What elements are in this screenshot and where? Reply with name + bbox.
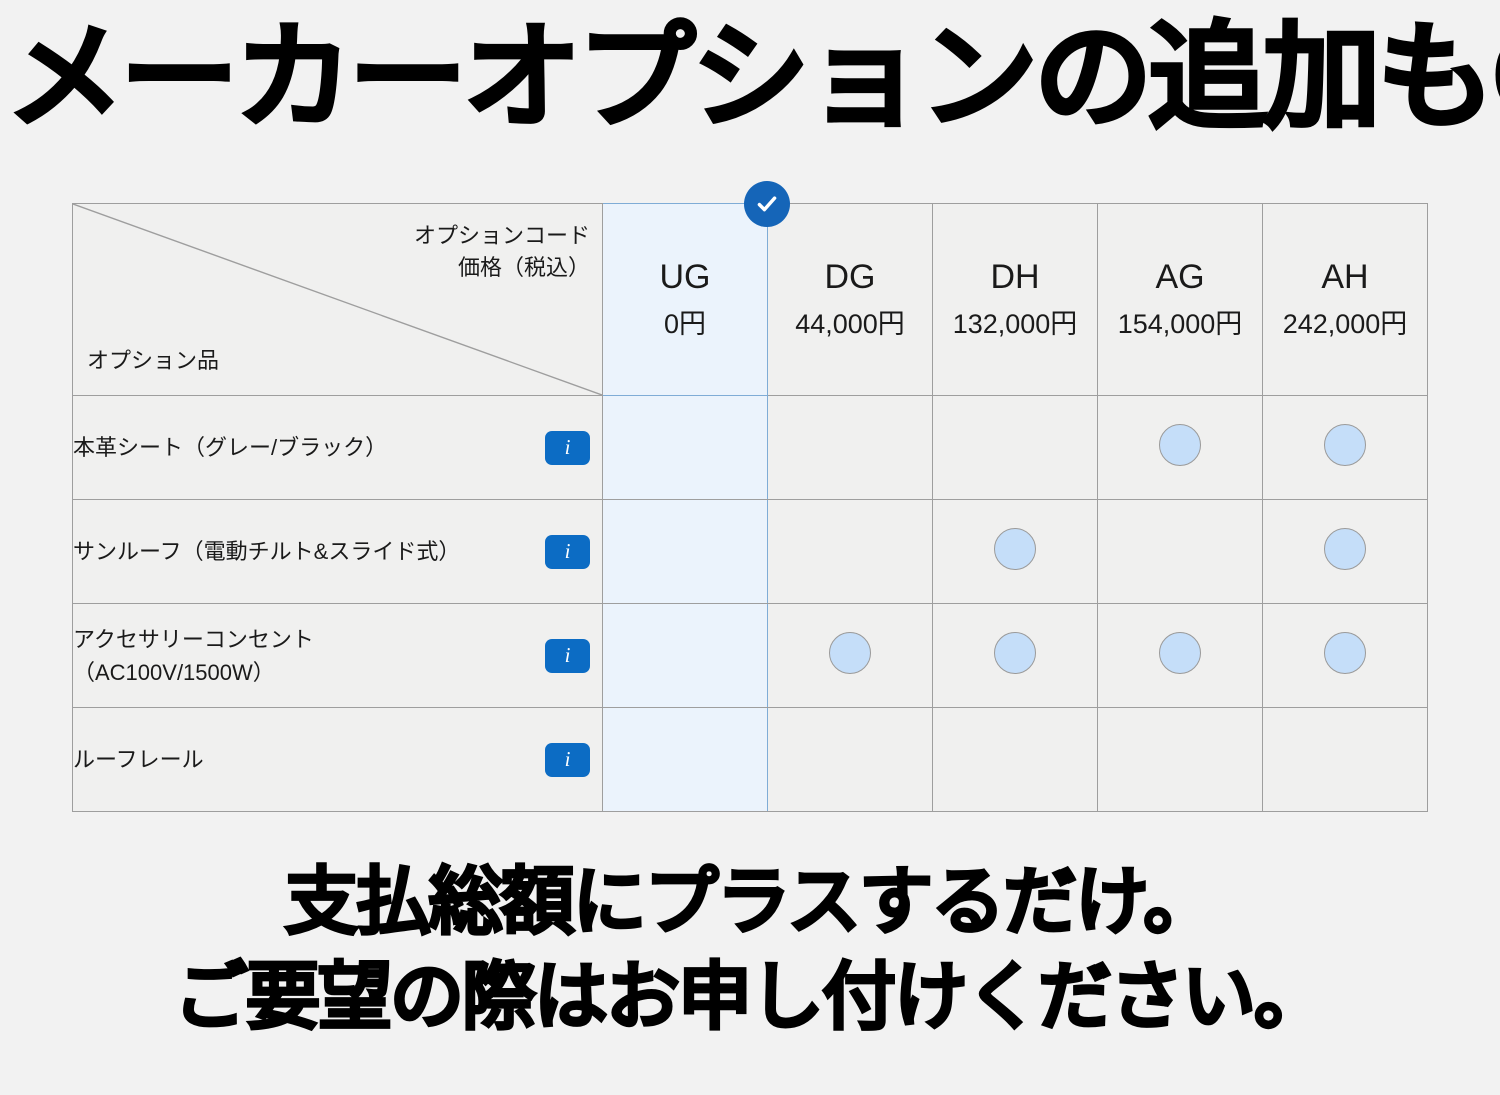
corner-row-axis-label: オプション品 xyxy=(87,345,219,377)
table-row: アクセサリーコンセント （AC100V/1500W） i xyxy=(73,604,1428,708)
availability-circle-icon xyxy=(994,528,1036,570)
corner-price-label: 価格（税込） xyxy=(414,252,590,284)
footer-line-2: ご要望の際はお申し付けください。 xyxy=(0,950,1500,1045)
footer-message: 支払総額にプラスするだけ。 ご要望の際はお申し付けください。 xyxy=(0,855,1500,1044)
mark-cell-ag[interactable] xyxy=(1098,396,1263,500)
availability-circle-icon xyxy=(829,632,871,674)
info-icon[interactable]: i xyxy=(545,535,590,569)
column-code-dg: DG xyxy=(768,259,932,296)
option-price-table: オプションコード 価格（税込） オプション品 UG 0円 DG 44,000円 xyxy=(72,203,1428,812)
mark-cell-dh[interactable] xyxy=(933,708,1098,812)
mark-cell-ah[interactable] xyxy=(1263,708,1428,812)
mark-cell-dg[interactable] xyxy=(768,604,933,708)
option-label-line2: （AC100V/1500W） xyxy=(73,656,602,689)
check-icon xyxy=(744,181,790,227)
availability-circle-icon xyxy=(1159,632,1201,674)
info-icon[interactable]: i xyxy=(545,431,590,465)
mark-cell-dh[interactable] xyxy=(933,396,1098,500)
column-price-ah: 242,000円 xyxy=(1263,310,1427,340)
mark-cell-dg[interactable] xyxy=(768,396,933,500)
availability-circle-icon xyxy=(994,632,1036,674)
table-row: ルーフレール i xyxy=(73,708,1428,812)
corner-header-cell: オプションコード 価格（税込） オプション品 xyxy=(73,204,603,396)
column-code-dh: DH xyxy=(933,259,1097,296)
mark-cell-dg[interactable] xyxy=(768,500,933,604)
mark-cell-ah[interactable] xyxy=(1263,500,1428,604)
option-label-cell: アクセサリーコンセント （AC100V/1500W） i xyxy=(73,604,603,708)
column-header-dg[interactable]: DG 44,000円 xyxy=(768,204,933,396)
column-price-ug: 0円 xyxy=(603,310,767,340)
availability-circle-icon xyxy=(1159,424,1201,466)
mark-cell-dh[interactable] xyxy=(933,500,1098,604)
mark-cell-ag[interactable] xyxy=(1098,500,1263,604)
page-headline: メーカーオプションの追加もOK!! xyxy=(6,8,1500,148)
option-label-line1: ルーフレール xyxy=(73,743,602,776)
info-icon[interactable]: i xyxy=(545,743,590,777)
mark-cell-ah[interactable] xyxy=(1263,604,1428,708)
mark-cell-ug[interactable] xyxy=(603,604,768,708)
mark-cell-ag[interactable] xyxy=(1098,604,1263,708)
column-price-dg: 44,000円 xyxy=(768,310,932,340)
mark-cell-ug[interactable] xyxy=(603,708,768,812)
mark-cell-dg[interactable] xyxy=(768,708,933,812)
mark-cell-ug[interactable] xyxy=(603,396,768,500)
column-header-ah[interactable]: AH 242,000円 xyxy=(1263,204,1428,396)
mark-cell-ag[interactable] xyxy=(1098,708,1263,812)
table-body: 本革シート（グレー/ブラック） i サンルーフ（電動チルト&スライド式） i xyxy=(73,396,1428,812)
availability-circle-icon xyxy=(1324,424,1366,466)
column-price-dh: 132,000円 xyxy=(933,310,1097,340)
table-header-row: オプションコード 価格（税込） オプション品 UG 0円 DG 44,000円 xyxy=(73,204,1428,396)
option-label-line1: 本革シート（グレー/ブラック） xyxy=(73,431,602,464)
option-label-cell: ルーフレール i xyxy=(73,708,603,812)
column-header-ag[interactable]: AG 154,000円 xyxy=(1098,204,1263,396)
mark-cell-dh[interactable] xyxy=(933,604,1098,708)
option-label-cell: 本革シート（グレー/ブラック） i xyxy=(73,396,603,500)
footer-line-1: 支払総額にプラスするだけ。 xyxy=(0,855,1500,950)
column-code-ug: UG xyxy=(603,259,767,296)
option-label-line1: サンルーフ（電動チルト&スライド式） xyxy=(73,535,602,568)
column-code-ah: AH xyxy=(1263,259,1427,296)
table-row: サンルーフ（電動チルト&スライド式） i xyxy=(73,500,1428,604)
availability-circle-icon xyxy=(1324,528,1366,570)
availability-circle-icon xyxy=(1324,632,1366,674)
option-label-cell: サンルーフ（電動チルト&スライド式） i xyxy=(73,500,603,604)
column-header-dh[interactable]: DH 132,000円 xyxy=(933,204,1098,396)
info-icon[interactable]: i xyxy=(545,639,590,673)
table-row: 本革シート（グレー/ブラック） i xyxy=(73,396,1428,500)
corner-option-code-label: オプションコード xyxy=(414,220,590,252)
column-header-ug[interactable]: UG 0円 xyxy=(603,204,768,396)
column-code-ag: AG xyxy=(1098,259,1262,296)
mark-cell-ug[interactable] xyxy=(603,500,768,604)
corner-column-axis-label: オプションコード 価格（税込） xyxy=(414,220,590,284)
mark-cell-ah[interactable] xyxy=(1263,396,1428,500)
column-price-ag: 154,000円 xyxy=(1098,310,1262,340)
option-label-line1: アクセサリーコンセント xyxy=(73,623,602,656)
